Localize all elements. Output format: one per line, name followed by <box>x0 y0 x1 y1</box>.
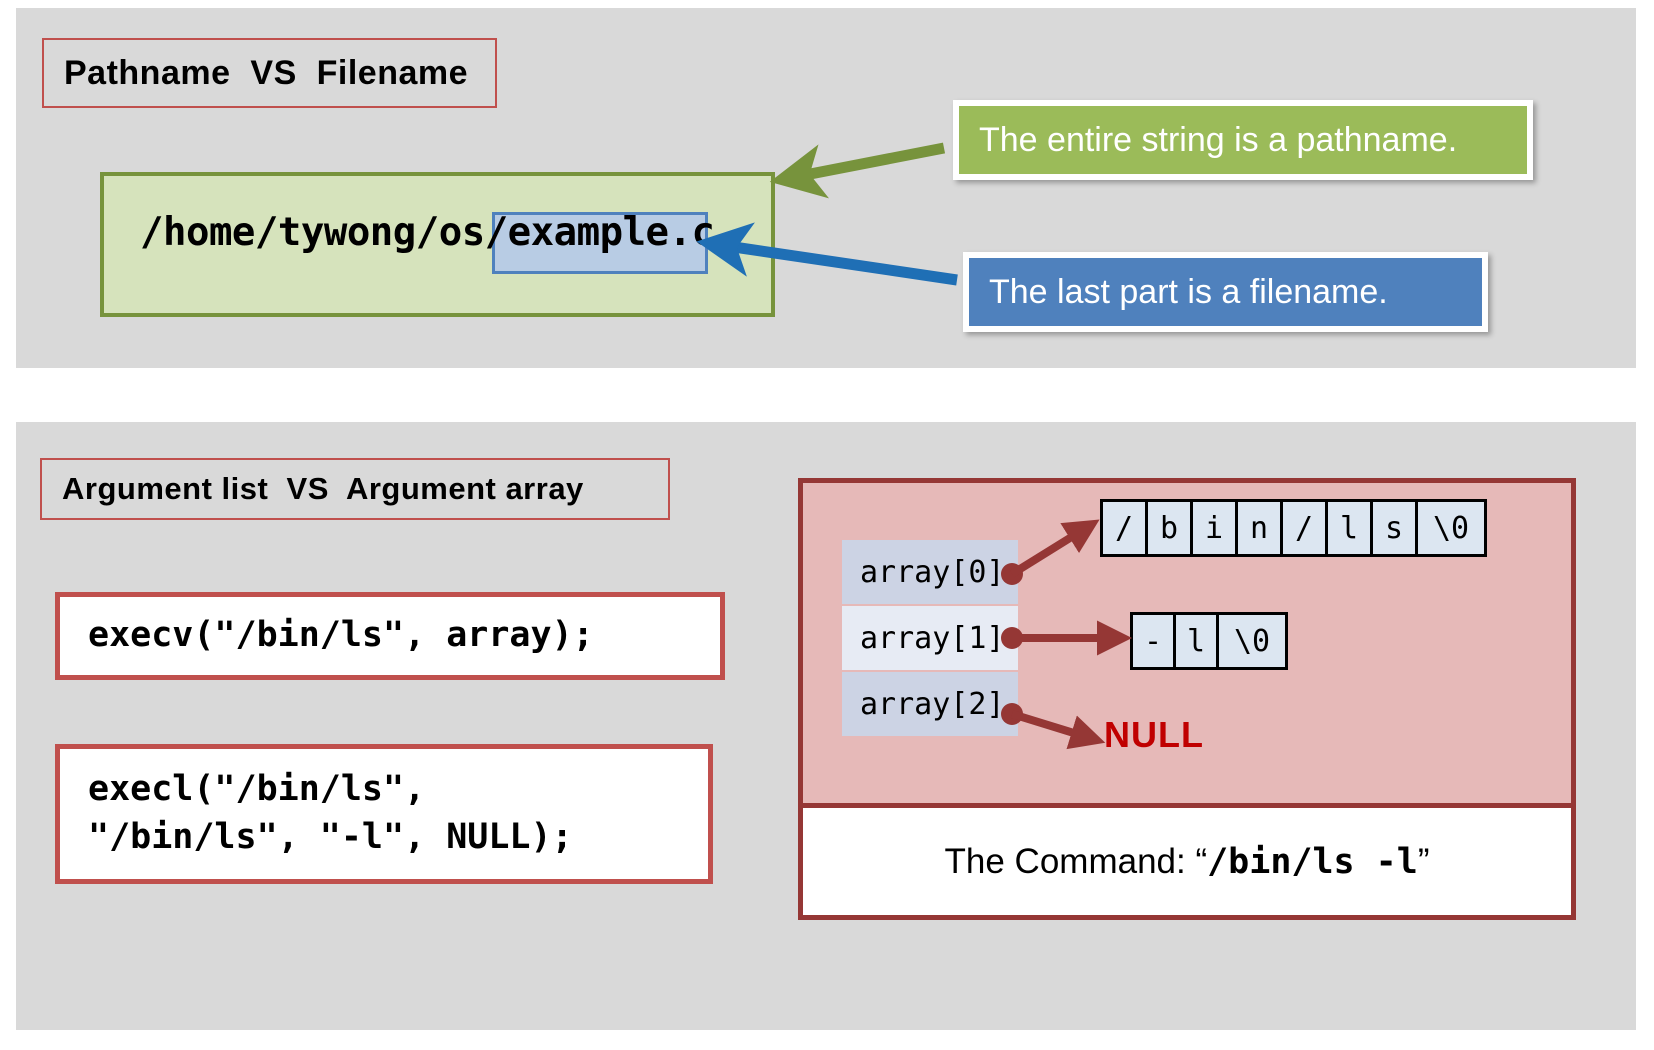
command-suffix: ” <box>1418 842 1430 881</box>
char-cell: b <box>1148 502 1193 554</box>
filename-callout: The last part is a filename. <box>963 252 1488 332</box>
command-result-text: The Command: “/bin/ls -l” <box>945 842 1430 882</box>
char-cell: \0 <box>1219 615 1285 667</box>
execl-code-line2: "/bin/ls", "-l", NULL); <box>88 814 708 862</box>
char-cell: - <box>1133 615 1176 667</box>
pathname-section-title: Pathname VS Filename <box>42 38 497 108</box>
bin-ls-char-array: / b i n / l s \0 <box>1100 499 1487 557</box>
char-cell: i <box>1193 502 1238 554</box>
array-index-2-label: array[2] <box>860 687 1005 722</box>
char-cell: / <box>1283 502 1328 554</box>
array-index-1-cell: array[1] <box>842 606 1018 670</box>
char-cell: n <box>1238 502 1283 554</box>
execl-code-box: execl("/bin/ls", "/bin/ls", "-l", NULL); <box>55 744 713 884</box>
char-cell: l <box>1176 615 1219 667</box>
pathname-string-text: /home/tywong/os/example.c <box>140 210 715 255</box>
command-value: /bin/ls -l <box>1207 842 1418 882</box>
array-index-0-label: array[0] <box>860 555 1005 590</box>
char-cell: \0 <box>1418 502 1484 554</box>
execv-code-box: execv("/bin/ls", array); <box>55 592 725 680</box>
char-cell: l <box>1328 502 1373 554</box>
char-cell: s <box>1373 502 1418 554</box>
dash-l-char-array: - l \0 <box>1130 612 1288 670</box>
array-index-0-cell: array[0] <box>842 540 1018 604</box>
null-pointer-label: NULL <box>1104 714 1204 756</box>
command-result-panel: The Command: “/bin/ls -l” <box>798 808 1576 920</box>
char-cell: / <box>1103 502 1148 554</box>
execv-code-line: execv("/bin/ls", array); <box>88 612 720 660</box>
execl-code-line1: execl("/bin/ls", <box>88 766 708 814</box>
pathname-callout: The entire string is a pathname. <box>953 100 1533 180</box>
command-prefix: The Command: “ <box>945 842 1208 881</box>
array-index-1-label: array[1] <box>860 621 1005 656</box>
array-index-2-cell: array[2] <box>842 672 1018 736</box>
argument-section-title: Argument list VS Argument array <box>40 458 670 520</box>
